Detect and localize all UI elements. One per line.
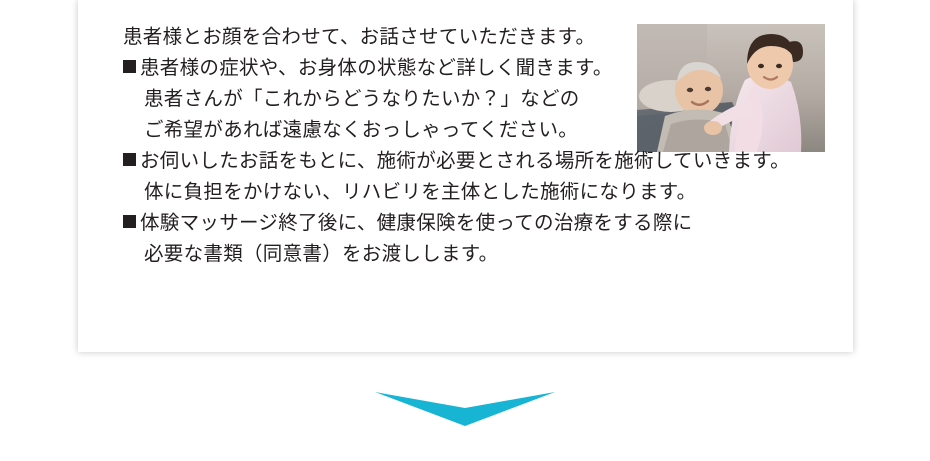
bullet-line: ご希望があれば遠慮なくおっしゃってください。 (123, 115, 833, 146)
page-root: 患者様とお顔を合わせて、お話させていただきます。 患者様の症状や、お身体の状態な… (0, 0, 930, 461)
bullet-block-2: お伺いしたお話をもとに、施術が必要とされる場所を施術していきます。 体に負担をか… (123, 146, 833, 208)
bullet-text: 体験マッサージ終了後に、健康保険を使っての治療をする際に (140, 212, 692, 234)
down-arrow-container (0, 380, 930, 440)
bullet-line: 患者さんが「これからどうなりたいか？」などの (123, 84, 833, 115)
bullet-line: 体験マッサージ終了後に、健康保険を使っての治療をする際に (123, 208, 833, 239)
card-inner: 患者様とお顔を合わせて、お話させていただきます。 患者様の症状や、お身体の状態な… (78, 0, 853, 352)
bullet-line: お伺いしたお話をもとに、施術が必要とされる場所を施術していきます。 (123, 146, 833, 177)
text-column: 患者様とお顔を合わせて、お話させていただきます。 患者様の症状や、お身体の状態な… (123, 22, 833, 270)
bullet-line: 必要な書類（同意書）をお渡しします。 (123, 239, 833, 270)
bullet-text: お伺いしたお話をもとに、施術が必要とされる場所を施術していきます。 (140, 150, 790, 172)
intro-paragraph: 患者様とお顔を合わせて、お話させていただきます。 (123, 22, 833, 53)
content-card: 患者様とお顔を合わせて、お話させていただきます。 患者様の症状や、お身体の状態な… (78, 0, 853, 352)
bullet-block-1: 患者様の症状や、お身体の状態など詳しく聞きます。 患者さんが「これからどうなりた… (123, 53, 833, 146)
bullet-line: 患者様の症状や、お身体の状態など詳しく聞きます。 (123, 53, 833, 84)
square-bullet-icon (123, 60, 136, 73)
square-bullet-icon (123, 215, 136, 228)
bullet-text: 患者様の症状や、お身体の状態など詳しく聞きます。 (140, 57, 613, 79)
down-arrow-icon (375, 380, 555, 440)
bullet-block-3: 体験マッサージ終了後に、健康保険を使っての治療をする際に 必要な書類（同意書）を… (123, 208, 833, 270)
bullet-line: 体に負担をかけない、リハビリを主体とした施術になります。 (123, 177, 833, 208)
square-bullet-icon (123, 153, 136, 166)
